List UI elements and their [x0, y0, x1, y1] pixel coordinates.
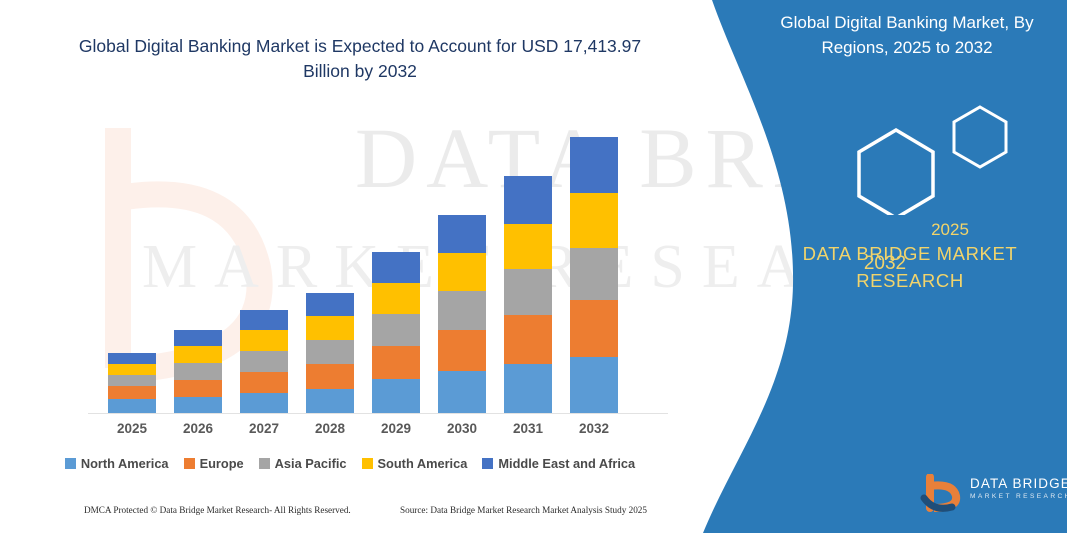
bar-2026 [174, 330, 222, 413]
footer: DMCA Protected © Data Bridge Market Rese… [0, 505, 700, 527]
bar-segment-middle-east-and-africa [174, 330, 222, 346]
bar-segment-south-america [372, 283, 420, 314]
bar-segment-north-america [372, 379, 420, 413]
logo-secondary-text: MARKET RESEARCH [970, 493, 1067, 500]
logo-text-block: DATA BRIDGE MARKET RESEARCH [970, 476, 1067, 500]
bar-segment-middle-east-and-africa [108, 353, 156, 364]
legend-item-europe[interactable]: Europe [184, 456, 244, 471]
bar-segment-north-america [108, 399, 156, 413]
legend-item-asia-pacific[interactable]: Asia Pacific [259, 456, 347, 471]
bar-segment-south-america [438, 253, 486, 291]
bar-segment-south-america [570, 193, 618, 248]
legend-label: Asia Pacific [275, 456, 347, 471]
bar-2025 [108, 353, 156, 413]
bar-2031 [504, 176, 552, 413]
legend-swatch-icon [184, 458, 195, 469]
x-axis-label-2027: 2027 [229, 421, 299, 436]
stacked-bar-chart: 20252026202720282029203020312032 [0, 0, 700, 460]
bar-segment-north-america [240, 393, 288, 413]
legend-swatch-icon [362, 458, 373, 469]
bar-2030 [438, 215, 486, 413]
x-axis-label-2025: 2025 [97, 421, 167, 436]
bar-segment-europe [570, 300, 618, 357]
bar-segment-south-america [108, 364, 156, 375]
x-axis-label-2026: 2026 [163, 421, 233, 436]
legend-swatch-icon [482, 458, 493, 469]
bar-segment-asia-pacific [240, 351, 288, 372]
x-axis-line [88, 413, 668, 414]
legend-label: Middle East and Africa [498, 456, 635, 471]
bar-segment-north-america [438, 371, 486, 413]
brand-name: DATA BRIDGE MARKET RESEARCH [790, 240, 1030, 294]
bar-segment-south-america [240, 330, 288, 351]
x-axis-label-2030: 2030 [427, 421, 497, 436]
legend-label: Europe [200, 456, 244, 471]
company-logo: DATA BRIDGE MARKET RESEARCH [920, 472, 1060, 514]
panel-title: Global Digital Banking Market, By Region… [757, 10, 1057, 60]
chart-legend: North AmericaEuropeAsia PacificSouth Ame… [0, 456, 700, 471]
bar-segment-europe [438, 330, 486, 371]
x-axis-label-2031: 2031 [493, 421, 563, 436]
bar-segment-asia-pacific [504, 269, 552, 315]
bar-segment-north-america [570, 357, 618, 413]
bar-segment-north-america [504, 364, 552, 413]
chart-plot-area [0, 0, 700, 413]
footer-source: Source: Data Bridge Market Research Mark… [400, 505, 647, 515]
bar-segment-asia-pacific [570, 248, 618, 300]
bar-segment-north-america [174, 397, 222, 413]
bar-segment-europe [108, 386, 156, 399]
bar-segment-middle-east-and-africa [504, 176, 552, 224]
bar-segment-south-america [174, 346, 222, 363]
footer-copyright: DMCA Protected © Data Bridge Market Rese… [84, 505, 351, 515]
bar-segment-europe [174, 380, 222, 397]
bridge-logo-icon [920, 474, 966, 514]
bar-segment-asia-pacific [306, 340, 354, 364]
legend-swatch-icon [259, 458, 270, 469]
legend-swatch-icon [65, 458, 76, 469]
x-axis-labels: 20252026202720282029203020312032 [0, 421, 700, 445]
bar-segment-europe [240, 372, 288, 393]
bar-segment-middle-east-and-africa [372, 252, 420, 283]
x-axis-label-2032: 2032 [559, 421, 629, 436]
bar-segment-middle-east-and-africa [438, 215, 486, 253]
bar-segment-middle-east-and-africa [306, 293, 354, 316]
bar-2032 [570, 137, 618, 413]
legend-item-middle-east-and-africa[interactable]: Middle East and Africa [482, 456, 635, 471]
legend-item-south-america[interactable]: South America [362, 456, 468, 471]
infographic-root: DATA BRIDGE MARKET RESEARCH Global Digit… [0, 0, 1067, 533]
hexagon-label-start-year: 2025 [910, 220, 990, 240]
bar-segment-middle-east-and-africa [570, 137, 618, 193]
x-axis-label-2028: 2028 [295, 421, 365, 436]
legend-label: North America [81, 456, 169, 471]
bar-segment-europe [504, 315, 552, 364]
bar-segment-middle-east-and-africa [240, 310, 288, 330]
bar-2027 [240, 310, 288, 413]
bar-2028 [306, 293, 354, 413]
legend-label: South America [378, 456, 468, 471]
bar-segment-europe [306, 364, 354, 389]
bar-segment-south-america [504, 224, 552, 269]
bar-segment-asia-pacific [372, 314, 420, 346]
x-axis-label-2029: 2029 [361, 421, 431, 436]
legend-item-north-america[interactable]: North America [65, 456, 169, 471]
logo-primary-text: DATA BRIDGE [970, 476, 1067, 491]
hexagon-group: 2032 2025 [820, 95, 1020, 210]
hexagon-shapes-icon [820, 95, 1020, 215]
bar-segment-europe [372, 346, 420, 379]
bar-segment-asia-pacific [108, 375, 156, 386]
bar-2029 [372, 252, 420, 413]
bar-segment-south-america [306, 316, 354, 340]
bar-segment-asia-pacific [438, 291, 486, 330]
bar-segment-north-america [306, 389, 354, 413]
bar-segment-asia-pacific [174, 363, 222, 380]
